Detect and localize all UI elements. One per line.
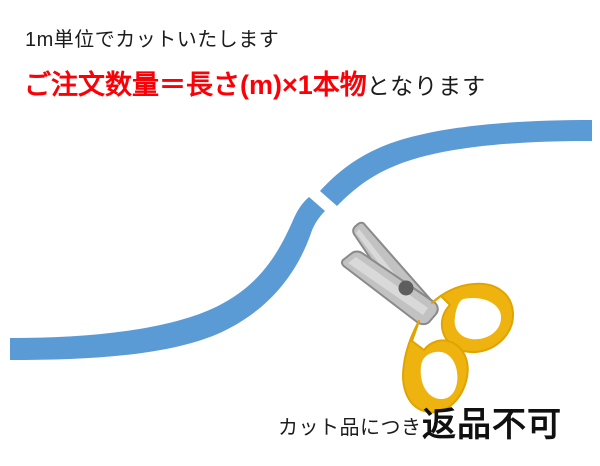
headline-order-formula-emphasis: ご注文数量＝長さ(m)×1本物 xyxy=(24,70,367,100)
blue-cable-left-segment xyxy=(10,197,325,360)
footer-no-return-badge: 返品不可 xyxy=(422,408,562,442)
blue-cable-right-segment xyxy=(320,120,592,206)
headline-order-formula-tail: となります xyxy=(367,73,486,99)
scissors xyxy=(342,223,513,413)
headline-cut-unit: 1m単位でカットいたします xyxy=(25,30,279,50)
headline-order-formula: ご注文数量＝長さ(m)×1本物となります xyxy=(24,72,486,99)
promo-banner: 1m単位でカットいたします ご注文数量＝長さ(m)×1本物となります カット品に… xyxy=(0,0,600,466)
scissor-pivot xyxy=(399,281,414,296)
footer-note: カット品につき xyxy=(278,418,422,438)
